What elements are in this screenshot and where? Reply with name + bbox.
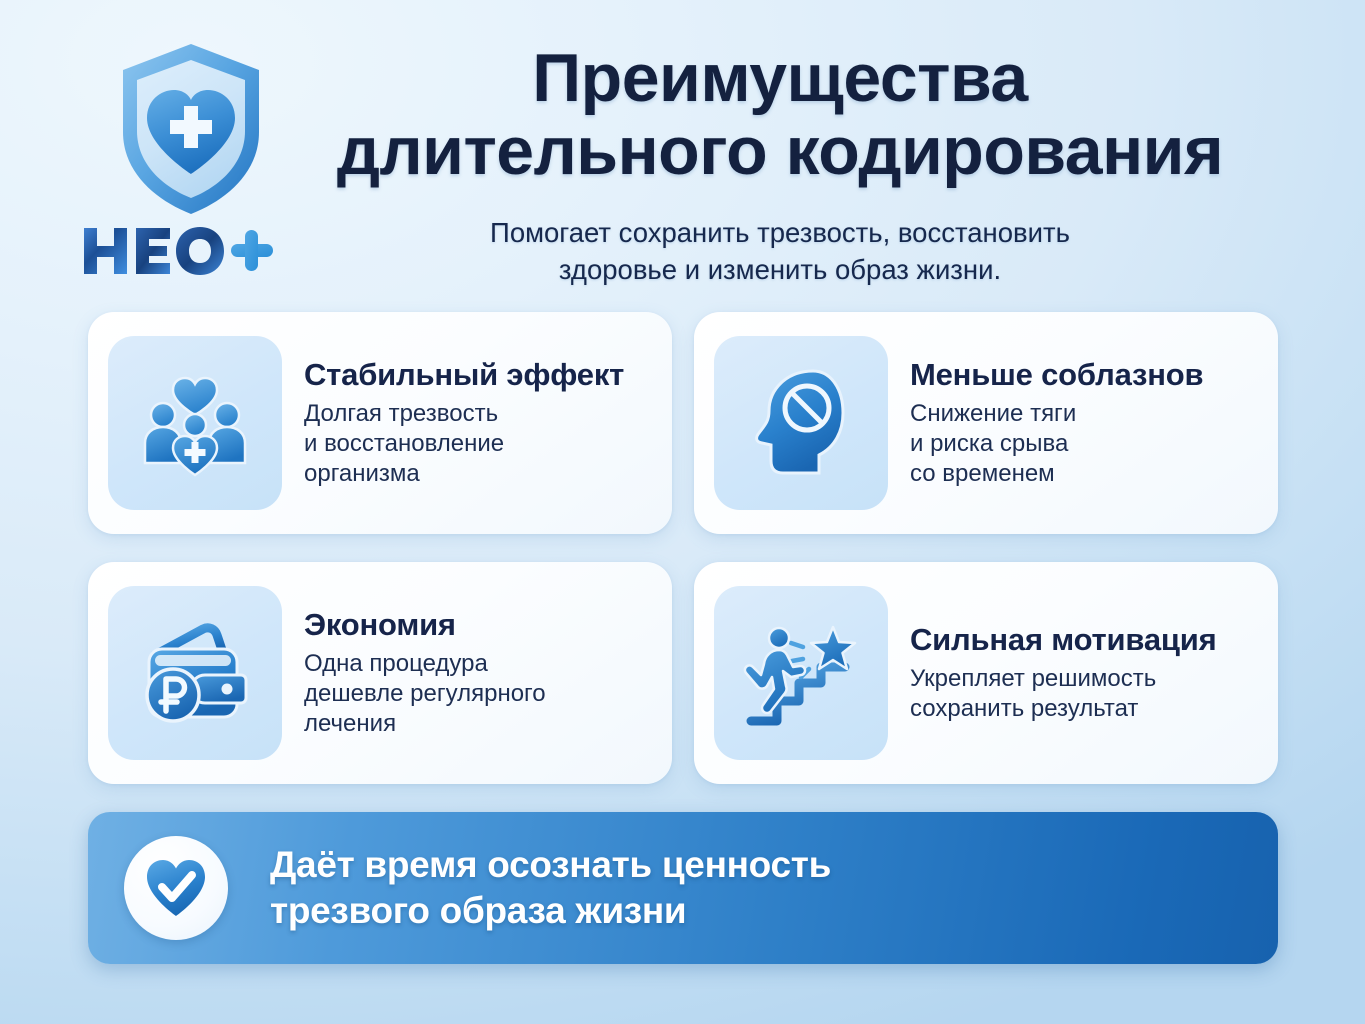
card-title: Экономия bbox=[304, 607, 642, 642]
card-desc-line: сохранить результат bbox=[910, 694, 1248, 724]
banner-text: Даёт время осознать ценность трезвого об… bbox=[228, 842, 831, 934]
infographic-page: Преимущества длительного кодирования Пом… bbox=[0, 0, 1365, 1024]
card-text: Сильная мотивация Укрепляет решимость со… bbox=[888, 622, 1252, 724]
card-description: Снижение тяги и риска срыва со временем bbox=[910, 399, 1248, 490]
card-desc-line: со временем bbox=[910, 459, 1248, 489]
card-desc-line: Укрепляет решимость bbox=[910, 664, 1248, 694]
card-desc-line: Снижение тяги bbox=[910, 399, 1248, 429]
card-desc-line: дешевле регулярного bbox=[304, 679, 642, 709]
card-desc-line: организма bbox=[304, 459, 642, 489]
family-heart-plus-icon bbox=[135, 363, 255, 483]
title-line-2: длительного кодирования bbox=[276, 117, 1284, 186]
card-desc-line: лечения bbox=[304, 709, 642, 739]
card-title: Сильная мотивация bbox=[910, 622, 1248, 657]
card-description: Укрепляет решимость сохранить результат bbox=[910, 664, 1248, 724]
icon-tile bbox=[714, 586, 888, 760]
page-subtitle: Помогает сохранить трезвость, восстанови… bbox=[276, 214, 1284, 289]
card-text: Экономия Одна процедура дешевле регулярн… bbox=[282, 607, 646, 740]
card-desc-line: и восстановление bbox=[304, 429, 642, 459]
card-text: Меньше соблазнов Снижение тяги и риска с… bbox=[888, 357, 1252, 490]
header: Преимущества длительного кодирования Пом… bbox=[0, 0, 1365, 300]
brand-logo bbox=[78, 40, 303, 280]
banner-badge bbox=[124, 836, 228, 940]
banner-text-line-1: Даёт время осознать ценность bbox=[270, 842, 831, 888]
card-text: Стабильный эффект Долгая трезвость и вос… bbox=[282, 357, 646, 490]
benefit-card-motivation[interactable]: Сильная мотивация Укрепляет решимость со… bbox=[694, 562, 1278, 784]
subtitle-line-1: Помогает сохранить трезвость, восстанови… bbox=[276, 214, 1284, 251]
benefit-card-stable-effect[interactable]: Стабильный эффект Долгая трезвость и вос… bbox=[88, 312, 672, 534]
card-desc-line: Одна процедура bbox=[304, 649, 642, 679]
banner-text-line-2: трезвого образа жизни bbox=[270, 888, 831, 934]
title-line-1: Преимущества bbox=[276, 44, 1284, 113]
icon-tile bbox=[108, 586, 282, 760]
heart-check-icon bbox=[142, 856, 210, 920]
card-desc-line: и риска срыва bbox=[910, 429, 1248, 459]
card-title: Стабильный эффект bbox=[304, 357, 642, 392]
page-title: Преимущества длительного кодирования bbox=[276, 44, 1284, 187]
subtitle-line-2: здоровье и изменить образ жизни. bbox=[276, 251, 1284, 288]
shield-heart-plus-icon bbox=[115, 40, 267, 218]
brand-wordmark-icon bbox=[78, 222, 278, 280]
icon-tile bbox=[108, 336, 282, 510]
card-description: Одна процедура дешевле регулярного лечен… bbox=[304, 649, 642, 740]
card-description: Долгая трезвость и восстановление органи… bbox=[304, 399, 642, 490]
benefit-cards-grid: Стабильный эффект Долгая трезвость и вос… bbox=[88, 312, 1278, 784]
benefit-card-savings[interactable]: Экономия Одна процедура дешевле регулярн… bbox=[88, 562, 672, 784]
icon-tile bbox=[714, 336, 888, 510]
card-desc-line: Долгая трезвость bbox=[304, 399, 642, 429]
bottom-banner[interactable]: Даёт время осознать ценность трезвого об… bbox=[88, 812, 1278, 964]
benefit-card-less-temptation[interactable]: Меньше соблазнов Снижение тяги и риска с… bbox=[694, 312, 1278, 534]
card-title: Меньше соблазнов bbox=[910, 357, 1248, 392]
head-no-entry-icon bbox=[741, 363, 861, 483]
wallet-ruble-icon bbox=[135, 613, 255, 733]
stairs-star-person-icon bbox=[741, 613, 861, 733]
